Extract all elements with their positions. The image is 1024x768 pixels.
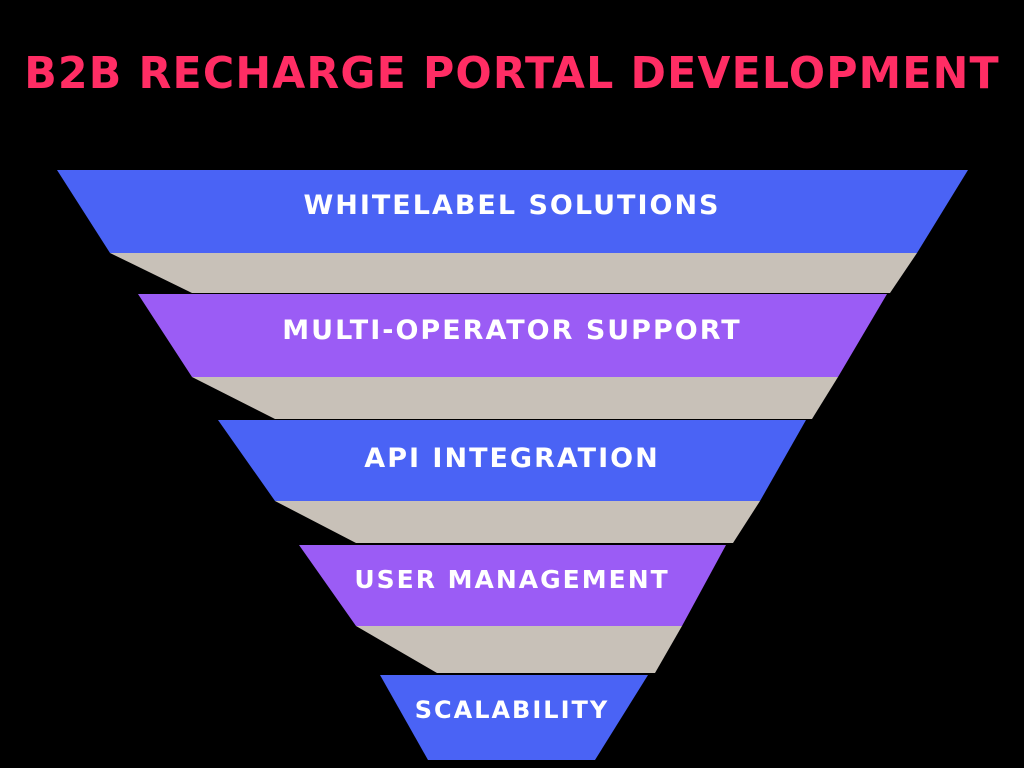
funnel-connector-4 [356,626,682,673]
funnel-stage-scalability[interactable] [380,675,648,760]
funnel-stage-api-integration[interactable] [218,420,806,501]
funnel-diagram-canvas: B2B RECHARGE PORTAL DEVELOPMENT WHITELAB… [0,0,1024,768]
funnel-connector-2 [192,377,838,419]
funnel-connector-3 [275,501,760,543]
funnel-stage-whitelabel-solutions[interactable] [57,170,968,253]
funnel-stage-user-management[interactable] [299,545,726,626]
funnel-stage-multi-operator-support[interactable] [138,294,887,377]
funnel-connector-1 [110,253,917,293]
funnel-shapes [0,0,1024,768]
